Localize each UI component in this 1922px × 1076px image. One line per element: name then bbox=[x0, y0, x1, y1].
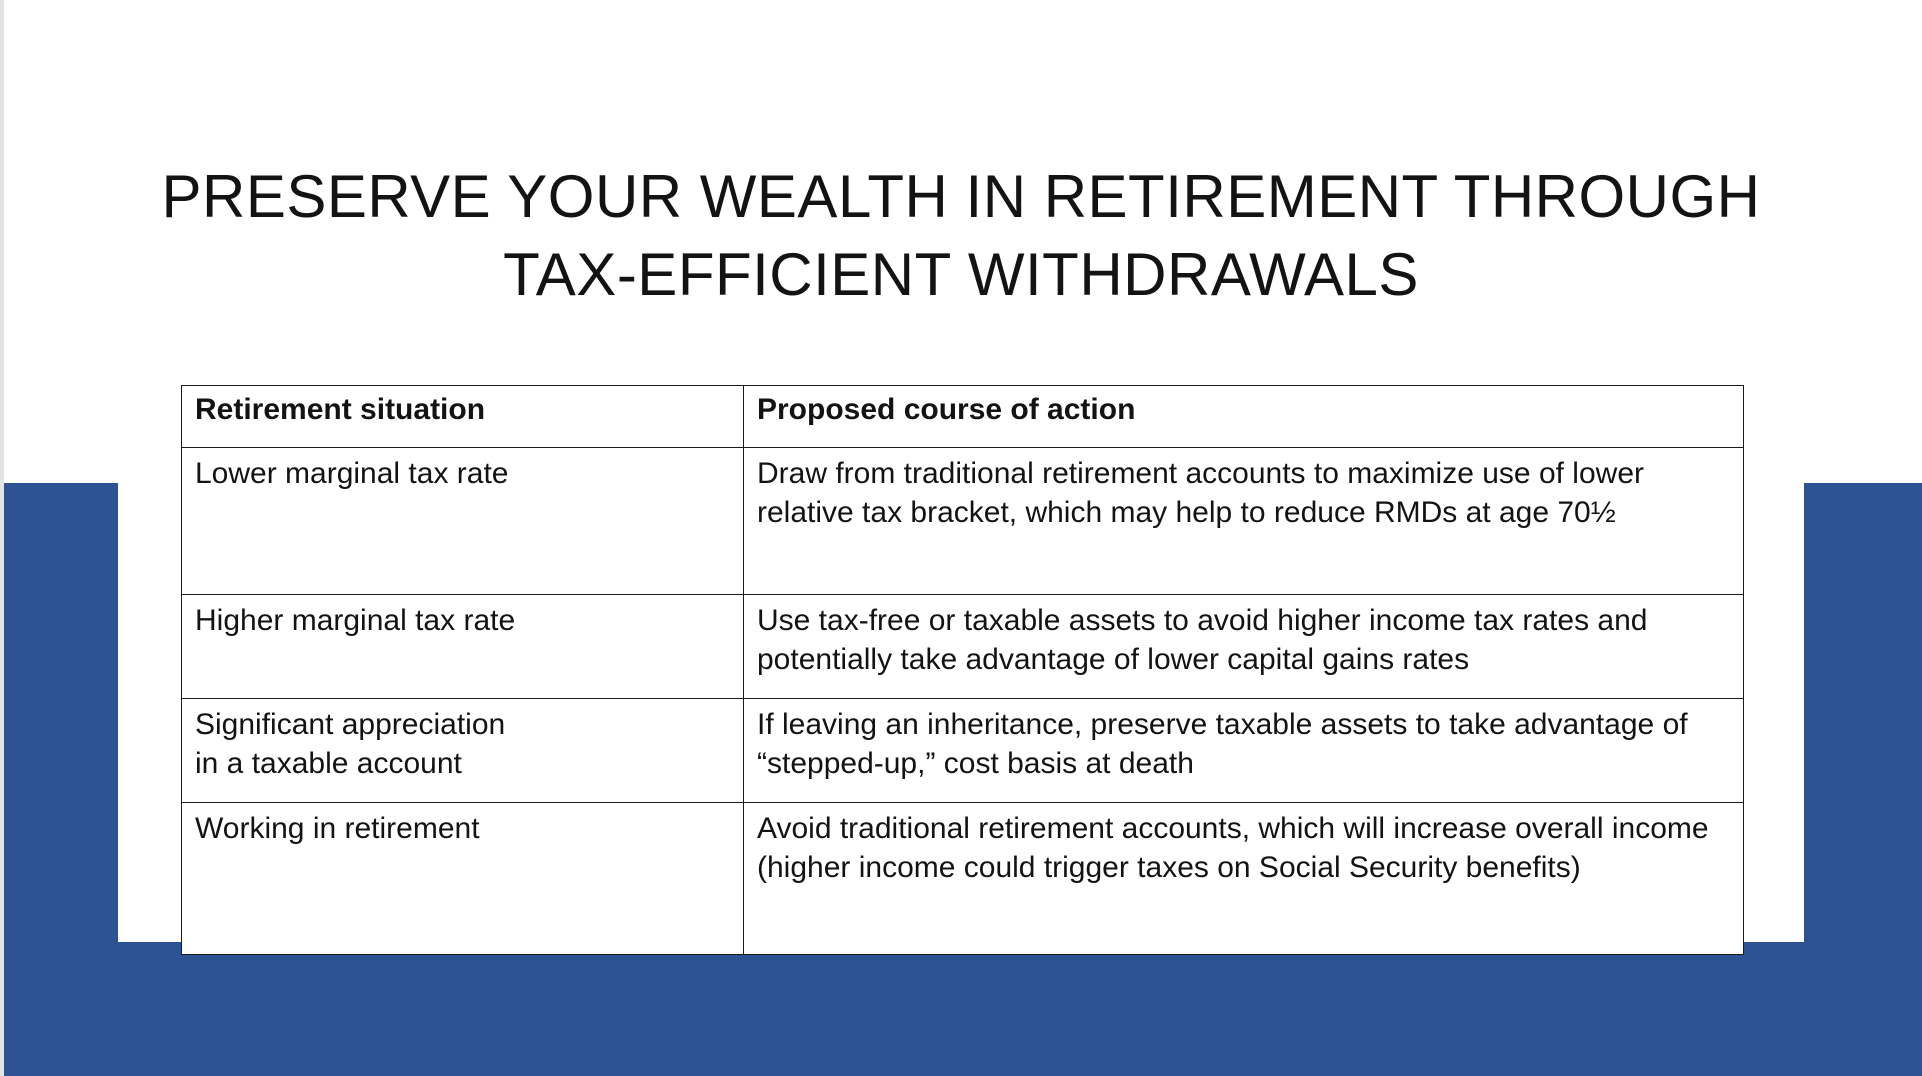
table-body: Lower marginal tax rate Draw from tradit… bbox=[182, 448, 1744, 955]
cell-situation: Lower marginal tax rate bbox=[182, 448, 744, 595]
table-row: Higher marginal tax rate Use tax-free or… bbox=[182, 595, 1744, 699]
page-title: PRESERVE YOUR WEALTH IN RETIREMENT THROU… bbox=[118, 158, 1804, 314]
slide-canvas: PRESERVE YOUR WEALTH IN RETIREMENT THROU… bbox=[0, 0, 1922, 1076]
table: Retirement situation Proposed course of … bbox=[181, 385, 1744, 955]
cell-action: If leaving an inheritance, preserve taxa… bbox=[744, 699, 1744, 803]
table-row: Significant appreciation in a taxable ac… bbox=[182, 699, 1744, 803]
accent-block-right bbox=[1804, 483, 1922, 953]
canvas-edge-sliver bbox=[0, 0, 4, 1076]
cell-action: Draw from traditional retirement account… bbox=[744, 448, 1744, 595]
table-row: Working in retirement Avoid traditional … bbox=[182, 803, 1744, 955]
retirement-strategy-table: Retirement situation Proposed course of … bbox=[181, 385, 1743, 955]
column-header-situation: Retirement situation bbox=[182, 386, 744, 448]
table-row: Lower marginal tax rate Draw from tradit… bbox=[182, 448, 1744, 595]
table-head: Retirement situation Proposed course of … bbox=[182, 386, 1744, 448]
cell-action: Use tax-free or taxable assets to avoid … bbox=[744, 595, 1744, 699]
accent-block-left bbox=[0, 483, 118, 953]
cell-action: Avoid traditional retirement accounts, w… bbox=[744, 803, 1744, 955]
table-header-row: Retirement situation Proposed course of … bbox=[182, 386, 1744, 448]
cell-situation: Significant appreciation in a taxable ac… bbox=[182, 699, 744, 803]
cell-situation: Higher marginal tax rate bbox=[182, 595, 744, 699]
accent-band-bottom bbox=[0, 942, 1922, 1076]
column-header-action: Proposed course of action bbox=[744, 386, 1744, 448]
cell-situation: Working in retirement bbox=[182, 803, 744, 955]
